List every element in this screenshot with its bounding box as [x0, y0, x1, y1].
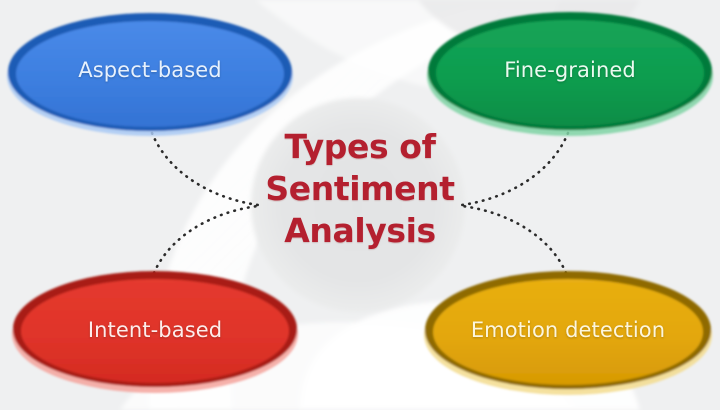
diagram-title: Types of Sentiment Analysis — [248, 126, 472, 253]
node-label-emotion-detection[interactable]: Emotion detection — [425, 318, 711, 342]
diagram-canvas: Types of Sentiment Analysis Aspect-based… — [0, 0, 720, 410]
node-label-fine-grained[interactable]: Fine-grained — [428, 58, 712, 82]
diagram-title-line-3: Analysis — [248, 210, 472, 252]
diagram-title-line-1: Types of — [248, 126, 472, 168]
node-label-aspect-based[interactable]: Aspect-based — [8, 58, 292, 82]
node-label-intent-based[interactable]: Intent-based — [13, 318, 297, 342]
diagram-title-line-2: Sentiment — [248, 168, 472, 210]
